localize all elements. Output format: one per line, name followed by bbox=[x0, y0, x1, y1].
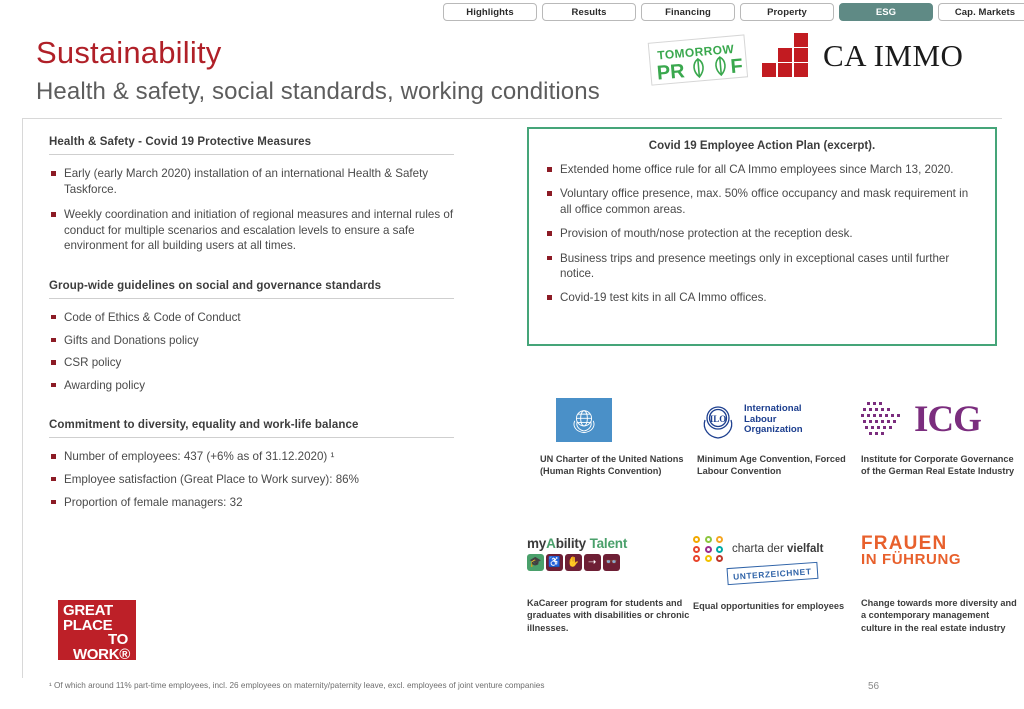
section-heading: Health & Safety - Covid 19 Protective Me… bbox=[49, 136, 461, 148]
charta-der-vielfalt-logo: charta der vielfalt UNTERZEICHNET bbox=[693, 536, 823, 582]
logo-cell-un: UN Charter of the United Nations (Human … bbox=[540, 392, 697, 478]
list-item: Employee satisfaction (Great Place to Wo… bbox=[49, 472, 461, 488]
logo-cell-ilo: ILO International Labour Organization Mi… bbox=[697, 392, 861, 478]
wheelchair-icon: ♿ bbox=[546, 554, 563, 571]
list-item: Weekly coordination and initiation of re… bbox=[49, 207, 461, 254]
header-divider bbox=[22, 118, 1002, 119]
icg-wordmark: ICG bbox=[914, 403, 981, 437]
logo-cell-myability: myAbility Talent 🎓 ♿ ✋ ➝ 👓 KaCareer prog… bbox=[527, 536, 693, 634]
section-governance: Group-wide guidelines on social and gove… bbox=[49, 280, 461, 393]
page-number: 56 bbox=[868, 681, 879, 692]
tomorrow-proof-logo: TOMORROW PR F bbox=[646, 33, 750, 89]
sign-language-hand-icon: ✋ bbox=[565, 554, 582, 571]
svg-text:ILO: ILO bbox=[710, 414, 727, 424]
list-item: Business trips and presence meetings onl… bbox=[545, 251, 979, 282]
logo-cell-icg: ICG Institute for Corporate Governance o… bbox=[861, 392, 1018, 478]
covid-action-plan-box: Covid 19 Employee Action Plan (excerpt).… bbox=[527, 127, 997, 346]
list-item: Provision of mouth/nose protection at th… bbox=[545, 226, 979, 241]
section-health-safety: Health & Safety - Covid 19 Protective Me… bbox=[49, 136, 461, 254]
glasses-icon: 👓 bbox=[603, 554, 620, 571]
myability-bility: bility bbox=[556, 536, 586, 551]
list-item: Proportion of female managers: 32 bbox=[49, 495, 461, 511]
list-item: Awarding policy bbox=[49, 378, 461, 394]
section-rule bbox=[49, 298, 454, 299]
left-margin-divider bbox=[22, 118, 23, 678]
unterzeichnet-stamp: UNTERZEICHNET bbox=[727, 562, 818, 585]
logo-caption: Institute for Corporate Governance of th… bbox=[861, 453, 1018, 478]
tab-financing[interactable]: Financing bbox=[641, 3, 735, 21]
section-heading: Commitment to diversity, equality and wo… bbox=[49, 419, 461, 431]
charta-dots-icon bbox=[693, 536, 725, 562]
logo-cell-charta: charta der vielfalt UNTERZEICHNET Equal … bbox=[693, 536, 861, 634]
logo-caption: Minimum Age Convention, Forced Labour Co… bbox=[697, 453, 861, 478]
ilo-seal-icon: ILO bbox=[697, 399, 739, 441]
gptw-line-4: WORK® bbox=[63, 648, 132, 663]
ilo-wordmark: International Labour Organization bbox=[744, 404, 803, 436]
graduation-cap-icon: 🎓 bbox=[527, 554, 544, 571]
logo-caption: Equal opportunities for employees bbox=[693, 600, 861, 612]
list-item: Covid-19 test kits in all CA Immo office… bbox=[545, 290, 979, 305]
myability-my: my bbox=[527, 536, 546, 551]
myability-talent: Talent bbox=[590, 536, 628, 551]
myability-logo: myAbility Talent 🎓 ♿ ✋ ➝ 👓 bbox=[527, 536, 627, 571]
list-item: CSR policy bbox=[49, 355, 461, 371]
list-item: Number of employees: 437 (+6% as of 31.1… bbox=[49, 449, 461, 465]
list-item: Gifts and Donations policy bbox=[49, 333, 461, 349]
slide: Highlights Results Financing Property ES… bbox=[0, 0, 1024, 709]
section-rule bbox=[49, 154, 454, 155]
ca-immo-blocks-icon bbox=[762, 33, 812, 79]
footnote: ¹ Of which around 11% part-time employee… bbox=[49, 681, 544, 690]
tab-highlights[interactable]: Highlights bbox=[443, 3, 537, 21]
logo-caption: KaCareer program for students and gradua… bbox=[527, 597, 693, 634]
ca-immo-wordmark: CA IMMO bbox=[823, 38, 963, 74]
bullet-list: Number of employees: 437 (+6% as of 31.1… bbox=[49, 449, 461, 510]
bullet-list: Extended home office rule for all CA Imm… bbox=[545, 162, 979, 306]
action-plan-title: Covid 19 Employee Action Plan (excerpt). bbox=[529, 140, 995, 152]
logo-cell-frauen: FRAUEN IN FÜHRUNG Change towards more di… bbox=[861, 536, 1021, 634]
tab-label: ESG bbox=[876, 7, 896, 18]
tab-label: Property bbox=[767, 7, 807, 18]
frauen-line-1: FRAUEN bbox=[861, 536, 961, 552]
frauen-in-fuehrung-logo: FRAUEN IN FÜHRUNG bbox=[861, 536, 961, 568]
charta-wordmark: charta der vielfalt bbox=[732, 543, 823, 555]
certification-logos-row-1: UN Charter of the United Nations (Human … bbox=[540, 392, 1018, 478]
tab-property[interactable]: Property bbox=[740, 3, 834, 21]
tab-label: Cap. Markets bbox=[955, 7, 1015, 18]
ca-immo-logo: CA IMMO bbox=[762, 33, 963, 79]
tab-label: Highlights bbox=[466, 7, 513, 18]
tab-label: Financing bbox=[665, 7, 711, 18]
charta-word-light: charta der bbox=[732, 543, 787, 555]
icg-dots-icon bbox=[861, 400, 911, 440]
list-item: Extended home office rule for all CA Imm… bbox=[545, 162, 979, 177]
frauen-line-2: IN FÜHRUNG bbox=[861, 552, 961, 568]
bullet-list: Early (early March 2020) installation of… bbox=[49, 166, 461, 254]
tab-esg[interactable]: ESG bbox=[839, 3, 933, 21]
tab-label: Results bbox=[571, 7, 606, 18]
great-place-to-work-logo: GREAT PLACE TO WORK® bbox=[58, 600, 136, 660]
list-item: Code of Ethics & Code of Conduct bbox=[49, 310, 461, 326]
un-flag-icon bbox=[556, 398, 612, 442]
section-diversity: Commitment to diversity, equality and wo… bbox=[49, 419, 461, 510]
logo-caption: Change towards more diversity and a cont… bbox=[861, 597, 1021, 634]
ilo-word-3: Organization bbox=[744, 425, 803, 436]
certification-logos-row-2: myAbility Talent 🎓 ♿ ✋ ➝ 👓 KaCareer prog… bbox=[527, 536, 1021, 634]
tab-results[interactable]: Results bbox=[542, 3, 636, 21]
charta-word-bold: vielfalt bbox=[787, 543, 823, 555]
page-title: Sustainability bbox=[36, 35, 221, 71]
page-subtitle: Health & safety, social standards, worki… bbox=[36, 78, 600, 106]
myability-a: A bbox=[546, 536, 556, 551]
list-item: Early (early March 2020) installation of… bbox=[49, 166, 461, 197]
section-nav-tabs: Highlights Results Financing Property ES… bbox=[443, 3, 1024, 21]
section-rule bbox=[49, 437, 454, 438]
prosthetic-leg-icon: ➝ bbox=[584, 554, 601, 571]
section-heading: Group-wide guidelines on social and gove… bbox=[49, 280, 461, 292]
tab-cap-markets[interactable]: Cap. Markets bbox=[938, 3, 1024, 21]
left-column: Health & Safety - Covid 19 Protective Me… bbox=[49, 136, 461, 517]
svg-text:F: F bbox=[730, 55, 744, 78]
bullet-list: Code of Ethics & Code of Conduct Gifts a… bbox=[49, 310, 461, 393]
svg-text:PR: PR bbox=[656, 60, 686, 84]
list-item: Voluntary office presence, max. 50% offi… bbox=[545, 186, 979, 217]
logo-caption: UN Charter of the United Nations (Human … bbox=[540, 453, 697, 478]
